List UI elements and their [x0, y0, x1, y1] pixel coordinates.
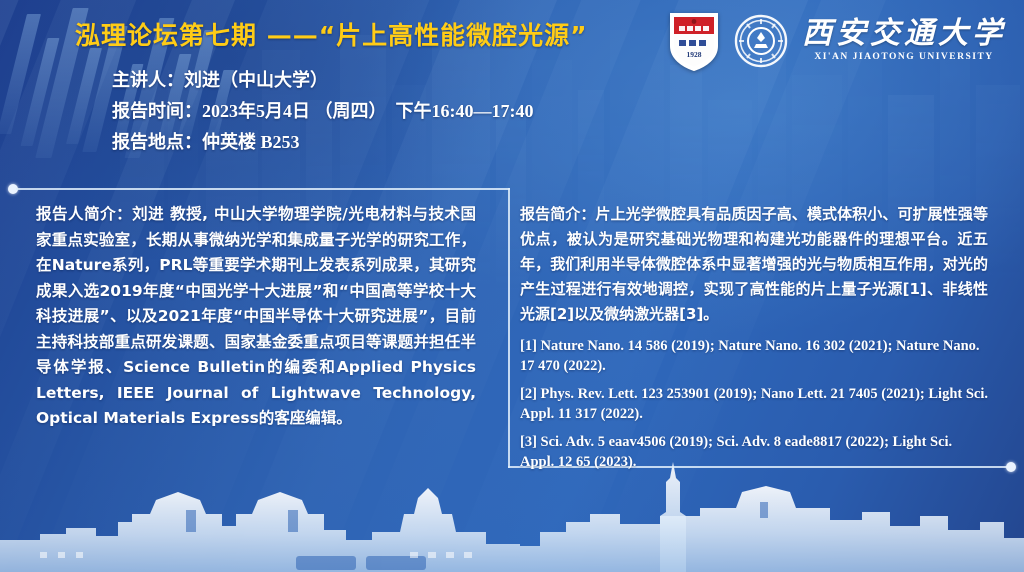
content-panels: 报告人简介：刘进 教授, 中山大学物理学院/光电材料与技术国家重点实验室，长期从… — [0, 196, 1024, 462]
physics-school-shield-logo: 1928 — [668, 10, 720, 72]
abstract-text: 报告简介：片上光学微腔具有品质因子高、模式体积小、可扩展性强等优点，被认为是研究… — [520, 202, 988, 327]
xjtu-seal-icon — [734, 14, 788, 68]
svg-text:1928: 1928 — [687, 50, 702, 59]
reference-item: [2] Phys. Rev. Lett. 123 253901 (2019); … — [520, 384, 988, 424]
speaker-bio-heading: 报告人简介： — [36, 205, 132, 223]
speaker-bio-text: 报告人简介：刘进 教授, 中山大学物理学院/光电材料与技术国家重点实验室，长期从… — [36, 202, 476, 432]
meta-place-value: 仲英楼 B253 — [202, 132, 300, 152]
meta-time-value: 2023年5月4日 （周四） 下午16:40—17:40 — [202, 101, 534, 121]
frame-dot-top-left — [8, 184, 18, 194]
frame-line-top — [16, 188, 510, 190]
speaker-bio-body: 刘进 教授, 中山大学物理学院/光电材料与技术国家重点实验室，长期从事微纳光学和… — [36, 205, 476, 427]
xjtu-wordmark: 西安交通大学 XI'AN JIAOTONG UNIVERSITY — [802, 19, 1006, 63]
meta-time: 报告时间：2023年5月4日 （周四） 下午16:40—17:40 — [112, 96, 534, 127]
event-meta: 主讲人：刘进（中山大学） 报告时间：2023年5月4日 （周四） 下午16:40… — [112, 66, 534, 158]
poster-canvas: 泓理论坛第七期 ——“片上高性能微腔光源” 主讲人：刘进（中山大学） 报告时间：… — [0, 0, 1024, 572]
logo-group: 1928 西安交通大学 — [668, 10, 1006, 72]
page-title: 泓理论坛第七期 ——“片上高性能微腔光源” — [75, 16, 588, 52]
xjtu-name-en: XI'AN JIAOTONG UNIVERSITY — [814, 53, 993, 63]
meta-place: 报告地点：仲英楼 B253 — [112, 127, 534, 158]
reference-item: [3] Sci. Adv. 5 eaav4506 (2019); Sci. Ad… — [520, 432, 988, 472]
meta-speaker: 主讲人：刘进（中山大学） — [112, 66, 534, 96]
abstract-heading: 报告简介： — [520, 205, 596, 223]
frame-dot-bottom-right — [1006, 462, 1016, 472]
meta-time-label: 报告时间： — [112, 101, 202, 122]
reference-item: [1] Nature Nano. 14 586 (2019); Nature N… — [520, 336, 988, 376]
meta-place-label: 报告地点： — [112, 132, 202, 153]
xjtu-name-cn: 西安交通大学 — [802, 19, 1006, 49]
abstract-panel: 报告简介：片上光学微腔具有品质因子高、模式体积小、可扩展性强等优点，被认为是研究… — [498, 196, 1014, 462]
speaker-bio-panel: 报告人简介：刘进 教授, 中山大学物理学院/光电材料与技术国家重点实验室，长期从… — [0, 196, 498, 462]
reference-list: [1] Nature Nano. 14 586 (2019); Nature N… — [520, 336, 988, 472]
